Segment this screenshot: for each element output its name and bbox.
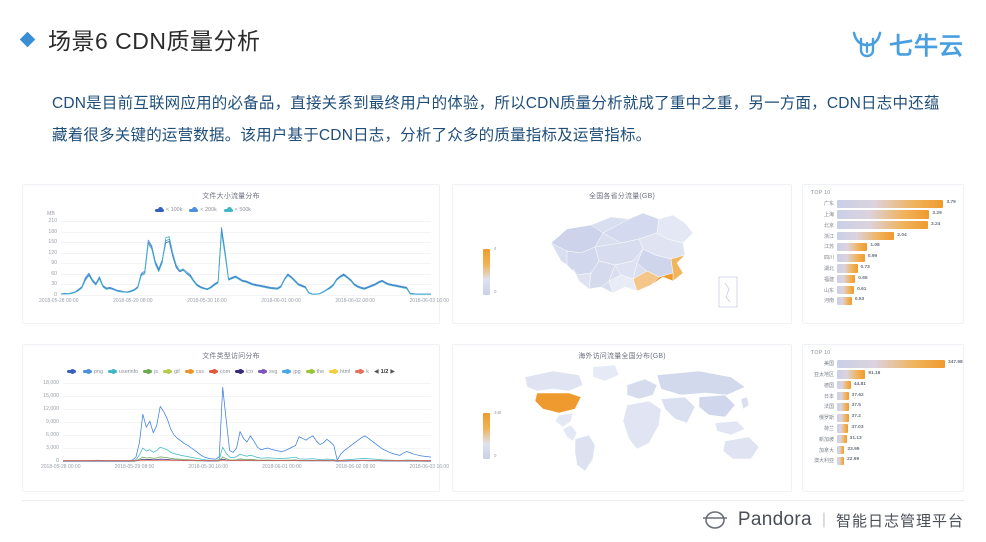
rank-value-label: 3.24	[931, 222, 940, 227]
rank-bar-track: 91.18	[837, 370, 955, 378]
rank-bar-track: 3.24	[837, 221, 955, 229]
legend-item[interactable]: com	[209, 369, 230, 375]
rank-category-label: 新加坡	[807, 436, 837, 443]
legend-item[interactable]: png	[83, 369, 103, 375]
legend-item[interactable]: < 200k	[189, 207, 216, 213]
diamond-icon	[20, 32, 36, 48]
rank-bar-track: 44.81	[837, 381, 955, 389]
x-axis-tick-labels: 2018-05-28 00:002018-05-29 08:002018-05-…	[41, 464, 449, 470]
legend-marker-icon	[108, 370, 117, 373]
legend-item[interactable]: ico	[235, 369, 253, 375]
legend-marker-icon	[355, 370, 364, 373]
rank-row[interactable]: 北京3.24	[807, 221, 955, 231]
chart-title-file-size: 文件大小流量分布	[23, 191, 439, 201]
rank-value-label: 37.03	[851, 425, 863, 430]
legend-marker-icon	[155, 209, 164, 212]
rank-bar	[837, 457, 844, 465]
rank-category-label: 山东	[807, 287, 837, 294]
legend-item[interactable]: css	[185, 369, 204, 375]
rank-bar	[837, 370, 865, 378]
rank-bar-track: 37.2	[837, 414, 955, 422]
rank-bar	[837, 275, 855, 283]
rank-category-label: 北京	[807, 222, 837, 229]
rank-category-label: 四川	[807, 254, 837, 261]
legend-marker-icon	[67, 370, 76, 373]
rank-value-label: 3.29	[932, 211, 941, 216]
china-map-graphic[interactable]	[533, 203, 743, 315]
rank-value-label: 22.99	[847, 457, 859, 462]
x-axis-tick-label: 2018-06-01 00:00	[261, 298, 300, 304]
rank-bar	[837, 360, 945, 368]
legend-label: js	[154, 369, 158, 375]
footer-subtitle: 智能日志管理平台	[836, 510, 964, 531]
legend-label: gif	[174, 369, 180, 375]
rank-value-label: 44.81	[854, 382, 866, 387]
rank-bar	[837, 254, 865, 262]
rank-value-label: 0.61	[857, 287, 866, 292]
rank-value-label: 37.5	[852, 403, 861, 408]
legend-marker-icon	[83, 370, 92, 373]
footer-brand: Pandora	[738, 509, 812, 531]
rank-category-label: 加拿大	[807, 447, 837, 454]
rank-row[interactable]: 亚太地区91.18	[807, 370, 955, 380]
series-line	[61, 233, 431, 294]
legend-item[interactable]: < 100k	[155, 207, 182, 213]
rank-bar-track: 0.73	[837, 264, 955, 272]
legend-marker-icon	[329, 370, 338, 373]
legend-item[interactable]: the	[306, 369, 325, 375]
x-axis-tick-label: 2018-06-02 08:00	[336, 464, 375, 470]
rank-value-label: 0.65	[858, 276, 867, 281]
chart-card-file-type-visits: 文件类型访问分布 pnguserinfojsgifcsscomicosvgjpg…	[22, 344, 440, 492]
x-axis-tick-label: 2018-06-03 16:00	[409, 298, 448, 304]
x-axis-tick-label: 2018-06-01 00:00	[262, 464, 301, 470]
chevron-right-icon[interactable]: ▶	[390, 368, 395, 375]
rank-bar-track: 37.03	[837, 424, 955, 432]
rank-title-china: TOP 10	[811, 190, 963, 196]
map-legend-gradient-world	[483, 413, 490, 459]
rank-bar-track: 1.08	[837, 243, 955, 251]
rank-bar	[837, 221, 928, 229]
rank-bar-track: 37.62	[837, 392, 955, 400]
rank-rows-overseas: 美国347.98亚太地区91.18德国44.81日本37.62法国37.5俄罗斯…	[803, 359, 963, 466]
rank-row[interactable]: 湖北0.73	[807, 264, 955, 274]
rank-value-label: 0.53	[855, 297, 864, 302]
x-axis-tick-label: 2018-05-29 08:00	[113, 298, 152, 304]
rank-row[interactable]: 加拿大23.99	[807, 445, 955, 455]
slide-footer: Pandora | 智能日志管理平台	[0, 500, 986, 542]
rank-category-label: 湖北	[807, 265, 837, 272]
rank-value-label: 347.98	[948, 360, 963, 365]
rank-bar	[837, 264, 858, 272]
x-axis-tick-label: 2018-05-29 08:00	[115, 464, 154, 470]
chart-title-file-type: 文件类型访问分布	[23, 351, 439, 361]
x-axis-tick-label: 2018-06-02 08:00	[335, 298, 374, 304]
rank-bar	[837, 243, 867, 251]
rank-bar-track: 37.5	[837, 403, 955, 411]
rank-row[interactable]: 法国37.5	[807, 402, 955, 412]
rank-bar-track: 23.99	[837, 446, 955, 454]
chart-legend-file-size[interactable]: < 100k< 200k< 500k	[23, 207, 439, 213]
series-lines	[23, 379, 439, 473]
series-line	[63, 447, 431, 461]
legend-item[interactable]: k	[355, 369, 369, 375]
map-title-world: 海外访问流量全国分布(GB)	[453, 351, 791, 361]
rank-bar	[837, 424, 848, 432]
legend-label: ico	[246, 369, 253, 375]
slide-header: 场景6 CDN质量分析 七牛云	[0, 0, 986, 72]
rank-bar-track: 3.29	[837, 210, 955, 218]
rank-value-label: 23.99	[847, 447, 859, 452]
chart-legend-file-type[interactable]: pnguserinfojsgifcsscomicosvgjpgthehtmlk◀…	[23, 368, 439, 375]
rank-category-label: 亚太地区	[807, 371, 837, 378]
legend-label: com	[220, 369, 230, 375]
x-axis-tick-label: 2018-05-30 16:00	[188, 464, 227, 470]
rank-bar-track: 0.65	[837, 275, 955, 283]
rank-bar-track: 3.79	[837, 200, 955, 208]
rank-category-label: 法国	[807, 403, 837, 410]
bar-card-rank-china: TOP 10 广东3.79上海3.29北京3.24浙江2.04江苏1.08四川0…	[802, 184, 964, 324]
legend-pager[interactable]: ◀1/2▶	[374, 368, 395, 375]
legend-marker-icon	[163, 370, 172, 373]
rank-value-label: 91.18	[868, 371, 880, 376]
chart-plot-file-type: 03,0006,0009,00012,00015,00018,0002018-0…	[23, 379, 439, 473]
world-map-graphic[interactable]	[509, 361, 773, 477]
rank-value-label: 1.08	[870, 243, 879, 248]
legend-marker-icon	[282, 370, 291, 373]
rank-bar	[837, 392, 849, 400]
rank-row[interactable]: 荷兰37.03	[807, 424, 955, 434]
rank-row[interactable]: 四川0.99	[807, 253, 955, 263]
legend-label: < 500k	[235, 207, 251, 213]
legend-item[interactable]: js	[143, 369, 158, 375]
rank-category-label: 美国	[807, 360, 837, 367]
x-axis-tick-labels: 2018-05-28 00:002018-05-29 08:002018-05-…	[39, 298, 449, 304]
rank-category-label: 俄罗斯	[807, 414, 837, 421]
rank-bar	[837, 446, 844, 454]
rank-value-label: 37.62	[852, 393, 864, 398]
rank-bar	[837, 435, 847, 443]
rank-rows-china: 广东3.79上海3.29北京3.24浙江2.04江苏1.08四川0.99湖北0.…	[803, 199, 963, 306]
rank-bar-track: 0.99	[837, 254, 955, 262]
legend-label: < 100k	[166, 207, 182, 213]
rank-category-label: 德国	[807, 382, 837, 389]
rank-category-label: 广东	[807, 200, 837, 207]
map-legend-world: 348 0	[483, 413, 490, 459]
legend-page-label: 1/2	[381, 369, 389, 375]
legend-label: the	[317, 369, 325, 375]
page-title: 场景6 CDN质量分析	[48, 22, 261, 56]
footer-divider	[22, 500, 964, 501]
rank-bar	[837, 381, 851, 389]
rank-row[interactable]: 河南0.53	[807, 296, 955, 306]
rank-row[interactable]: 浙江2.04	[807, 231, 955, 241]
rank-bar	[837, 200, 943, 208]
legend-label: jpg	[293, 369, 300, 375]
legend-marker-icon	[258, 370, 267, 373]
rank-category-label: 上海	[807, 211, 837, 218]
rank-row[interactable]: 新加坡31.13	[807, 434, 955, 444]
legend-marker-icon	[189, 209, 198, 212]
legend-label: < 200k	[200, 207, 216, 213]
x-axis-tick-label: 2018-05-30 16:00	[187, 298, 226, 304]
rank-title-overseas: TOP 10	[811, 350, 963, 356]
rank-bar	[837, 403, 849, 411]
rank-bar	[837, 232, 894, 240]
rank-bar-track: 31.13	[837, 435, 955, 443]
series-lines	[23, 217, 439, 307]
map-card-china: 全国各省分流量(GB) 4 0	[452, 184, 792, 324]
rank-row[interactable]: 上海3.29	[807, 210, 955, 220]
legend-label: userinfo	[119, 369, 138, 375]
rank-bar	[837, 210, 929, 218]
map-title-china: 全国各省分流量(GB)	[453, 191, 791, 201]
rank-bar	[837, 414, 849, 422]
rank-row[interactable]: 德国44.81	[807, 381, 955, 391]
rank-value-label: 2.04	[897, 233, 906, 238]
legend-marker-icon	[224, 209, 233, 212]
legend-label: k	[366, 369, 369, 375]
map-legend-max-china: 4	[494, 246, 496, 251]
x-axis-tick-label: 2018-06-03 16:00	[410, 464, 449, 470]
dashboard-screenshot: 文件大小流量分布 < 100k< 200k< 500k 030609012015…	[0, 182, 986, 502]
rank-category-label: 日本	[807, 393, 837, 400]
chart-plot-file-size: 0306090120150180210MB2018-05-28 00:00201…	[23, 217, 439, 307]
bar-card-rank-overseas: TOP 10 美国347.98亚太地区91.18德国44.81日本37.62法国…	[802, 344, 964, 492]
rank-category-label: 荷兰	[807, 425, 837, 432]
legend-marker-icon	[185, 370, 194, 373]
legend-item[interactable]: svg	[258, 369, 277, 375]
rank-category-label: 澳大利亚	[807, 457, 837, 464]
map-card-world: 海外访问流量全国分布(GB) 348 0	[452, 344, 792, 492]
rank-value-label: 31.13	[850, 436, 862, 441]
rank-category-label: 江苏	[807, 243, 837, 250]
rank-row[interactable]: 俄罗斯37.2	[807, 413, 955, 423]
chevron-left-icon[interactable]: ◀	[374, 368, 379, 375]
rank-row[interactable]: 江苏1.08	[807, 242, 955, 252]
qiniu-bull-logo-icon	[852, 30, 884, 58]
rank-row[interactable]: 美国347.98	[807, 359, 955, 369]
legend-marker-icon	[235, 370, 244, 373]
rank-row[interactable]: 福建0.65	[807, 274, 955, 284]
legend-marker-icon	[209, 370, 218, 373]
rank-row[interactable]: 山东0.61	[807, 285, 955, 295]
chart-card-file-size-traffic: 文件大小流量分布 < 100k< 200k< 500k 030609012015…	[22, 184, 440, 324]
map-legend-min-china: 0	[494, 289, 496, 294]
rank-row[interactable]: 澳大利亚22.99	[807, 456, 955, 466]
slide-page: 场景6 CDN质量分析 七牛云 CDN是目前互联网应用的必备品，直接关系到最终用…	[0, 0, 986, 542]
x-axis-tick-label: 2018-05-28 00:00	[39, 298, 78, 304]
rank-bar-track: 2.04	[837, 232, 955, 240]
legend-item[interactable]: html	[329, 369, 350, 375]
rank-bar	[837, 297, 852, 305]
footer-separator: |	[822, 511, 826, 529]
legend-marker-icon	[143, 370, 152, 373]
intro-paragraph: CDN是目前互联网应用的必备品，直接关系到最终用户的体验，所以CDN质量分析就成…	[52, 88, 952, 152]
x-axis-tick-label: 2018-05-28 00:00	[41, 464, 80, 470]
legend-item[interactable]: < 500k	[224, 207, 251, 213]
legend-label: css	[196, 369, 204, 375]
rank-bar-track: 0.61	[837, 286, 955, 294]
rank-value-label: 0.73	[861, 265, 870, 270]
legend-item[interactable]: gif	[163, 369, 180, 375]
rank-bar-track: 347.98	[837, 360, 955, 368]
rank-value-label: 0.99	[868, 254, 877, 259]
qiniu-logo-text: 七牛云	[889, 26, 964, 61]
map-legend-gradient-china	[483, 249, 490, 295]
rank-category-label: 河南	[807, 297, 837, 304]
rank-row[interactable]: 广东3.79	[807, 199, 955, 209]
map-legend-min-world: 0	[494, 453, 496, 458]
map-legend-china: 4 0	[483, 249, 490, 295]
map-legend-max-world: 348	[494, 410, 501, 415]
legend-label: png	[94, 369, 103, 375]
rank-value-label: 3.79	[946, 200, 955, 205]
series-line	[63, 387, 431, 460]
rank-bar-track: 0.53	[837, 297, 955, 305]
qiniu-logo: 七牛云	[852, 26, 964, 61]
rank-bar-track: 22.99	[837, 457, 955, 465]
legend-item[interactable]	[67, 370, 78, 373]
rank-bar	[837, 286, 854, 294]
rank-row[interactable]: 日本37.62	[807, 391, 955, 401]
legend-item[interactable]: jpg	[282, 369, 300, 375]
rank-category-label: 浙江	[807, 233, 837, 240]
legend-marker-icon	[306, 370, 315, 373]
rank-category-label: 福建	[807, 276, 837, 283]
pandora-ring-icon	[702, 509, 728, 531]
legend-label: svg	[269, 369, 277, 375]
legend-label: html	[340, 369, 350, 375]
legend-item[interactable]: userinfo	[108, 369, 138, 375]
rank-value-label: 37.2	[852, 414, 861, 419]
